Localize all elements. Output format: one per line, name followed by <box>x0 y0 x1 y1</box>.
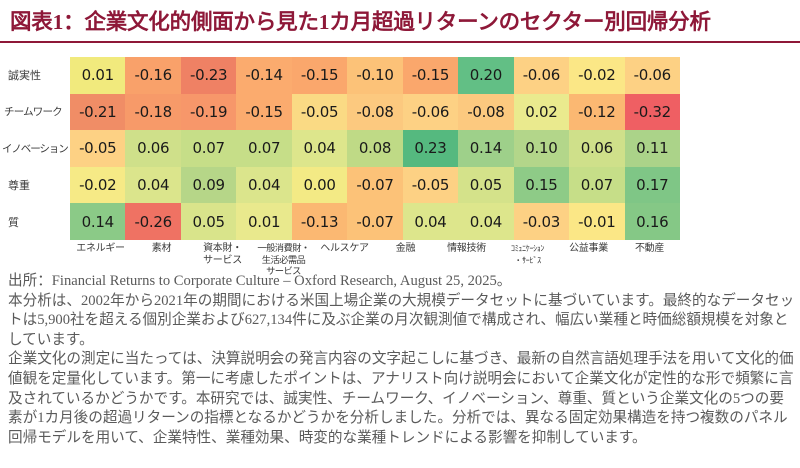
heatmap-cell: -0.21 <box>70 94 125 131</box>
paragraph-2: 企業文化の測定に当たっては、決算説明会の発言内容の文字起こしに基づき、最新の自然… <box>8 350 796 448</box>
heatmap-column-label: 素材 <box>131 243 192 273</box>
heatmap-row-label: チームワーク <box>0 94 66 131</box>
heatmap-column-label: 情報技術 <box>436 243 497 273</box>
heatmap-cell: -0.19 <box>181 94 236 131</box>
heatmap-grid: 0.01-0.16-0.23-0.14-0.15-0.10-0.150.20-0… <box>70 57 680 240</box>
heatmap-cell: 0.04 <box>292 130 347 167</box>
heatmap-cell: -0.02 <box>569 57 624 94</box>
paragraph-1: 本分析は、2002年から2021年の期間における米国上場企業の大規模データセット… <box>8 292 796 351</box>
heatmap-cell: 0.06 <box>125 130 180 167</box>
heatmap-column-label: 一般消費財・生活必需品サービス <box>253 243 314 273</box>
heatmap-cell: -0.05 <box>70 130 125 167</box>
heatmap-column-label-group: エネルギー素材資本財・サービス一般消費財・生活必需品サービスヘルスケア金融情報技… <box>70 243 680 273</box>
heatmap-cell: 0.01 <box>70 57 125 94</box>
heatmap-row: 0.01-0.16-0.23-0.14-0.15-0.10-0.150.20-0… <box>70 57 680 94</box>
heatmap-cell: 0.23 <box>403 130 458 167</box>
heatmap-cell: -0.15 <box>403 57 458 94</box>
heatmap-column-label: ヘルスケア <box>314 243 375 273</box>
heatmap-cell: 0.01 <box>236 203 291 240</box>
heatmap-cell: 0.04 <box>403 203 458 240</box>
figure-page: 図表1：企業文化的側面から見た1カ月超過リターンのセクター別回帰分析 誠実性チー… <box>0 0 800 468</box>
heatmap-cell: 0.11 <box>625 130 680 167</box>
heatmap-cell: -0.05 <box>292 94 347 131</box>
heatmap-cell: 0.00 <box>292 167 347 204</box>
heatmap-cell: 0.20 <box>458 57 513 94</box>
heatmap-cell: 0.09 <box>181 167 236 204</box>
heatmap-cell: 0.04 <box>236 167 291 204</box>
heatmap-column-label: エネルギー <box>70 243 131 273</box>
heatmap-row-label: イノベーション <box>0 130 66 167</box>
heatmap-row: -0.21-0.18-0.19-0.15-0.05-0.08-0.06-0.08… <box>70 94 680 131</box>
heatmap-cell: 0.07 <box>569 167 624 204</box>
heatmap-cell: -0.06 <box>403 94 458 131</box>
heatmap-row: 0.14-0.260.050.01-0.13-0.070.040.04-0.03… <box>70 203 680 240</box>
heatmap-row-label: 誠実性 <box>0 57 66 94</box>
page-title: 図表1：企業文化的側面から見た1カ月超過リターンのセクター別回帰分析 <box>10 5 711 36</box>
heatmap-cell: -0.08 <box>347 94 402 131</box>
heatmap-cell: 0.17 <box>625 167 680 204</box>
heatmap-column-label: 金融 <box>375 243 436 273</box>
heatmap-cell: -0.26 <box>125 203 180 240</box>
heatmap-cell: 0.06 <box>569 130 624 167</box>
heatmap-cell: 0.05 <box>181 203 236 240</box>
heatmap-cell: -0.08 <box>458 94 513 131</box>
heatmap-cell: -0.23 <box>181 57 236 94</box>
title-bar: 図表1：企業文化的側面から見た1カ月超過リターンのセクター別回帰分析 <box>0 0 800 40</box>
heatmap-cell: -0.07 <box>347 167 402 204</box>
heatmap-column-label: 不動産 <box>619 243 680 273</box>
heatmap-cell: 0.15 <box>514 167 569 204</box>
heatmap-cell: -0.05 <box>403 167 458 204</box>
heatmap-row: -0.020.040.090.040.00-0.07-0.050.050.150… <box>70 167 680 204</box>
heatmap-cell: 0.07 <box>236 130 291 167</box>
heatmap-cell: 0.04 <box>458 203 513 240</box>
heatmap-cell: 0.08 <box>347 130 402 167</box>
heatmap-cell: -0.12 <box>569 94 624 131</box>
heatmap-column-label: 公益事業 <box>558 243 619 273</box>
heatmap-cell: -0.02 <box>70 167 125 204</box>
heatmap-cell: 0.04 <box>125 167 180 204</box>
heatmap-cell: 0.16 <box>625 203 680 240</box>
heatmap-cell: 0.14 <box>458 130 513 167</box>
heatmap-cell: -0.10 <box>347 57 402 94</box>
heatmap-cell: -0.13 <box>292 203 347 240</box>
heatmap-cell: 0.14 <box>70 203 125 240</box>
heatmap-cell: 0.02 <box>514 94 569 131</box>
heatmap-row-label: 質 <box>0 203 66 240</box>
heatmap-cell: 0.07 <box>181 130 236 167</box>
heatmap-cell: -0.15 <box>292 57 347 94</box>
heatmap-cell: -0.06 <box>625 57 680 94</box>
heatmap-row: -0.050.060.070.070.040.080.230.140.100.0… <box>70 130 680 167</box>
heatmap-cell: -0.01 <box>569 203 624 240</box>
heatmap-cell: 0.05 <box>458 167 513 204</box>
heatmap-cell: -0.06 <box>514 57 569 94</box>
heatmap-chart: 誠実性チームワークイノベーション尊重質 0.01-0.16-0.23-0.14-… <box>0 48 800 273</box>
source-line: 出所：Financial Returns to Corporate Cultur… <box>8 272 796 292</box>
heatmap-column-label: ｺﾐｭﾆｹｰｼｮﾝ・ｻｰﾋﾞｽ <box>497 243 558 273</box>
heatmap-cell: 0.10 <box>514 130 569 167</box>
heatmap-cell: -0.18 <box>125 94 180 131</box>
heatmap-cell: -0.32 <box>625 94 680 131</box>
heatmap-cell: -0.03 <box>514 203 569 240</box>
heatmap-cell: -0.15 <box>236 94 291 131</box>
heatmap-cell: -0.14 <box>236 57 291 94</box>
title-divider <box>0 41 800 43</box>
heatmap-cell: -0.16 <box>125 57 180 94</box>
heatmap-cell: -0.07 <box>347 203 402 240</box>
figure-notes: 出所：Financial Returns to Corporate Cultur… <box>8 272 796 448</box>
heatmap-column-label: 資本財・サービス <box>192 243 253 273</box>
heatmap-row-label: 尊重 <box>0 167 66 204</box>
